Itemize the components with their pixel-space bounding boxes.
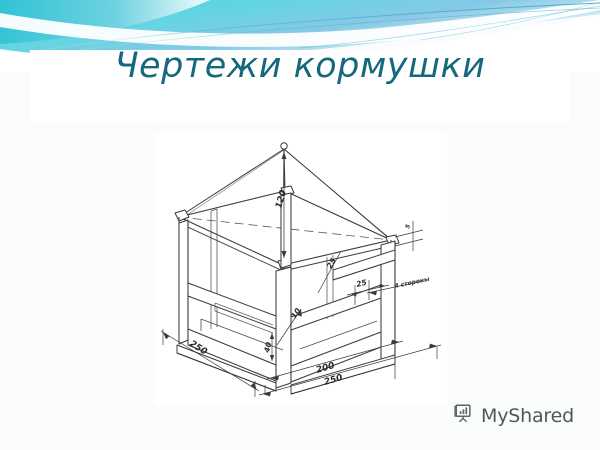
post-left (179, 220, 188, 344)
roof-apex-node (281, 143, 287, 149)
dimension-label-roof-thickness: 5 (404, 223, 412, 229)
watermark-label: MyShared (481, 405, 574, 427)
page-title: Чертежи кормушки (0, 46, 600, 86)
presentation-slide: Чертежи кормушки (0, 0, 600, 450)
technical-drawing: 120 5 25 25 (155, 133, 447, 405)
presentation-board-icon (452, 402, 474, 429)
dimension-roof-thickness: 5 (395, 221, 423, 251)
annotation-four-sides: 4 стороны (367, 276, 431, 296)
myshared-watermark: MyShared (452, 402, 574, 429)
dimension-label-post-b: 25 (355, 278, 367, 289)
annotation-label-four-sides: 4 стороны (394, 276, 431, 290)
